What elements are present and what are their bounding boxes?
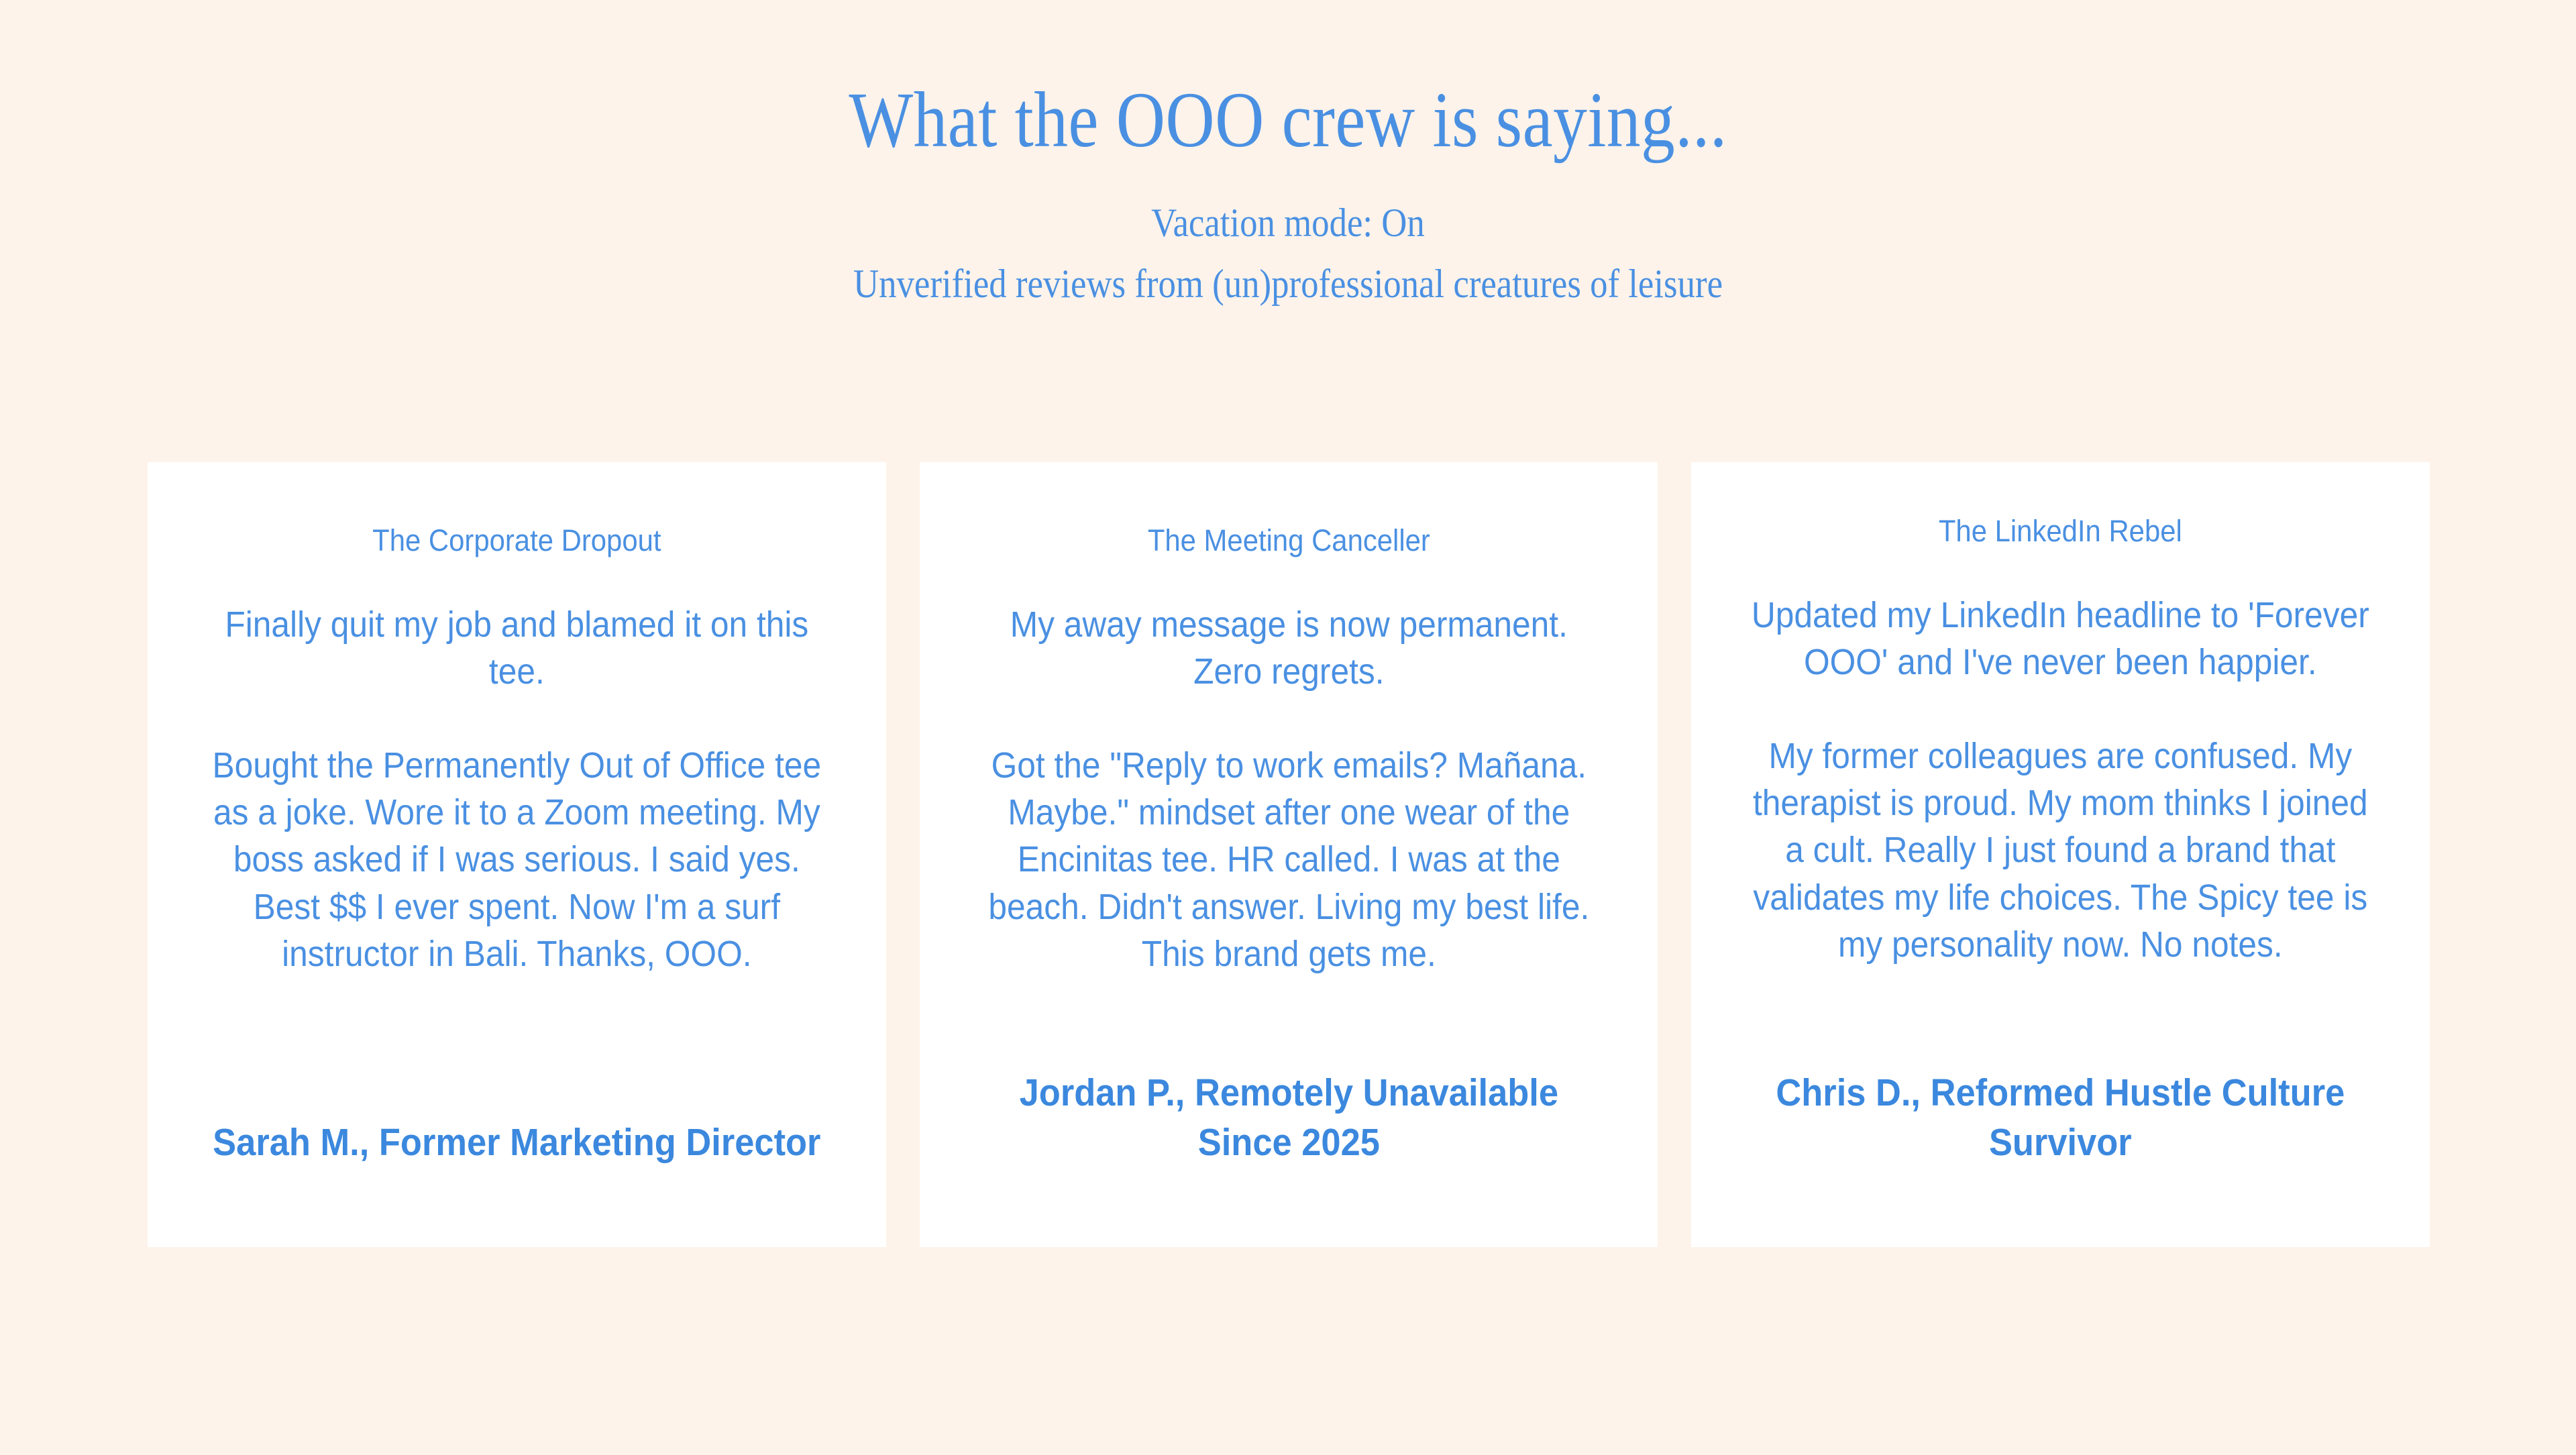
testimonial-quote-group: Updated my LinkedIn headline to 'Forever…	[1750, 592, 2372, 969]
subtitle-line-2: Unverified reviews from (un)professional…	[154, 254, 2421, 315]
testimonial-header: The Meeting Canceller	[974, 521, 1603, 561]
subtitle-line-1: Vacation mode: On	[154, 193, 2421, 254]
testimonial-quote-2: Got the "Reply to work emails? Mañana. M…	[977, 742, 1600, 977]
testimonial-attribution: Sarah M., Former Marketing Director	[205, 1118, 828, 1168]
page-title: What the OOO crew is saying...	[180, 79, 2396, 162]
testimonial-quote-1: Finally quit my job and blamed it on thi…	[205, 601, 828, 695]
testimonial-quote-1: Updated my LinkedIn headline to 'Forever…	[1750, 592, 2372, 686]
testimonial-header: The LinkedIn Rebel	[1746, 512, 2375, 551]
testimonial-card-linkedin-rebel: The LinkedIn Rebel Updated my LinkedIn h…	[1691, 462, 2430, 1247]
testimonial-quote-group: My away message is now permanent. Zero r…	[977, 601, 1600, 978]
page-header: What the OOO crew is saying... Vacation …	[0, 0, 2576, 315]
testimonial-quote-2: My former colleagues are confused. My th…	[1750, 733, 2372, 968]
testimonials-page: What the OOO crew is saying... Vacation …	[0, 0, 2576, 1455]
testimonial-quote-1: My away message is now permanent. Zero r…	[977, 601, 1600, 695]
testimonial-card-row: The Corporate Dropout Finally quit my jo…	[148, 462, 2430, 1247]
testimonial-quote-2: Bought the Permanently Out of Office tee…	[205, 742, 828, 977]
testimonial-quote-group: Finally quit my job and blamed it on thi…	[205, 601, 828, 978]
testimonial-attribution: Chris D., Reformed Hustle Culture Surviv…	[1750, 1068, 2372, 1168]
testimonial-header: The Corporate Dropout	[202, 521, 831, 561]
page-subtitle: Vacation mode: On Unverified reviews fro…	[0, 193, 2576, 315]
testimonial-card-meeting-canceller: The Meeting Canceller My away message is…	[920, 462, 1658, 1247]
testimonial-attribution: Jordan P., Remotely Unavailable Since 20…	[977, 1068, 1600, 1168]
testimonial-card-corporate-dropout: The Corporate Dropout Finally quit my jo…	[148, 462, 886, 1247]
